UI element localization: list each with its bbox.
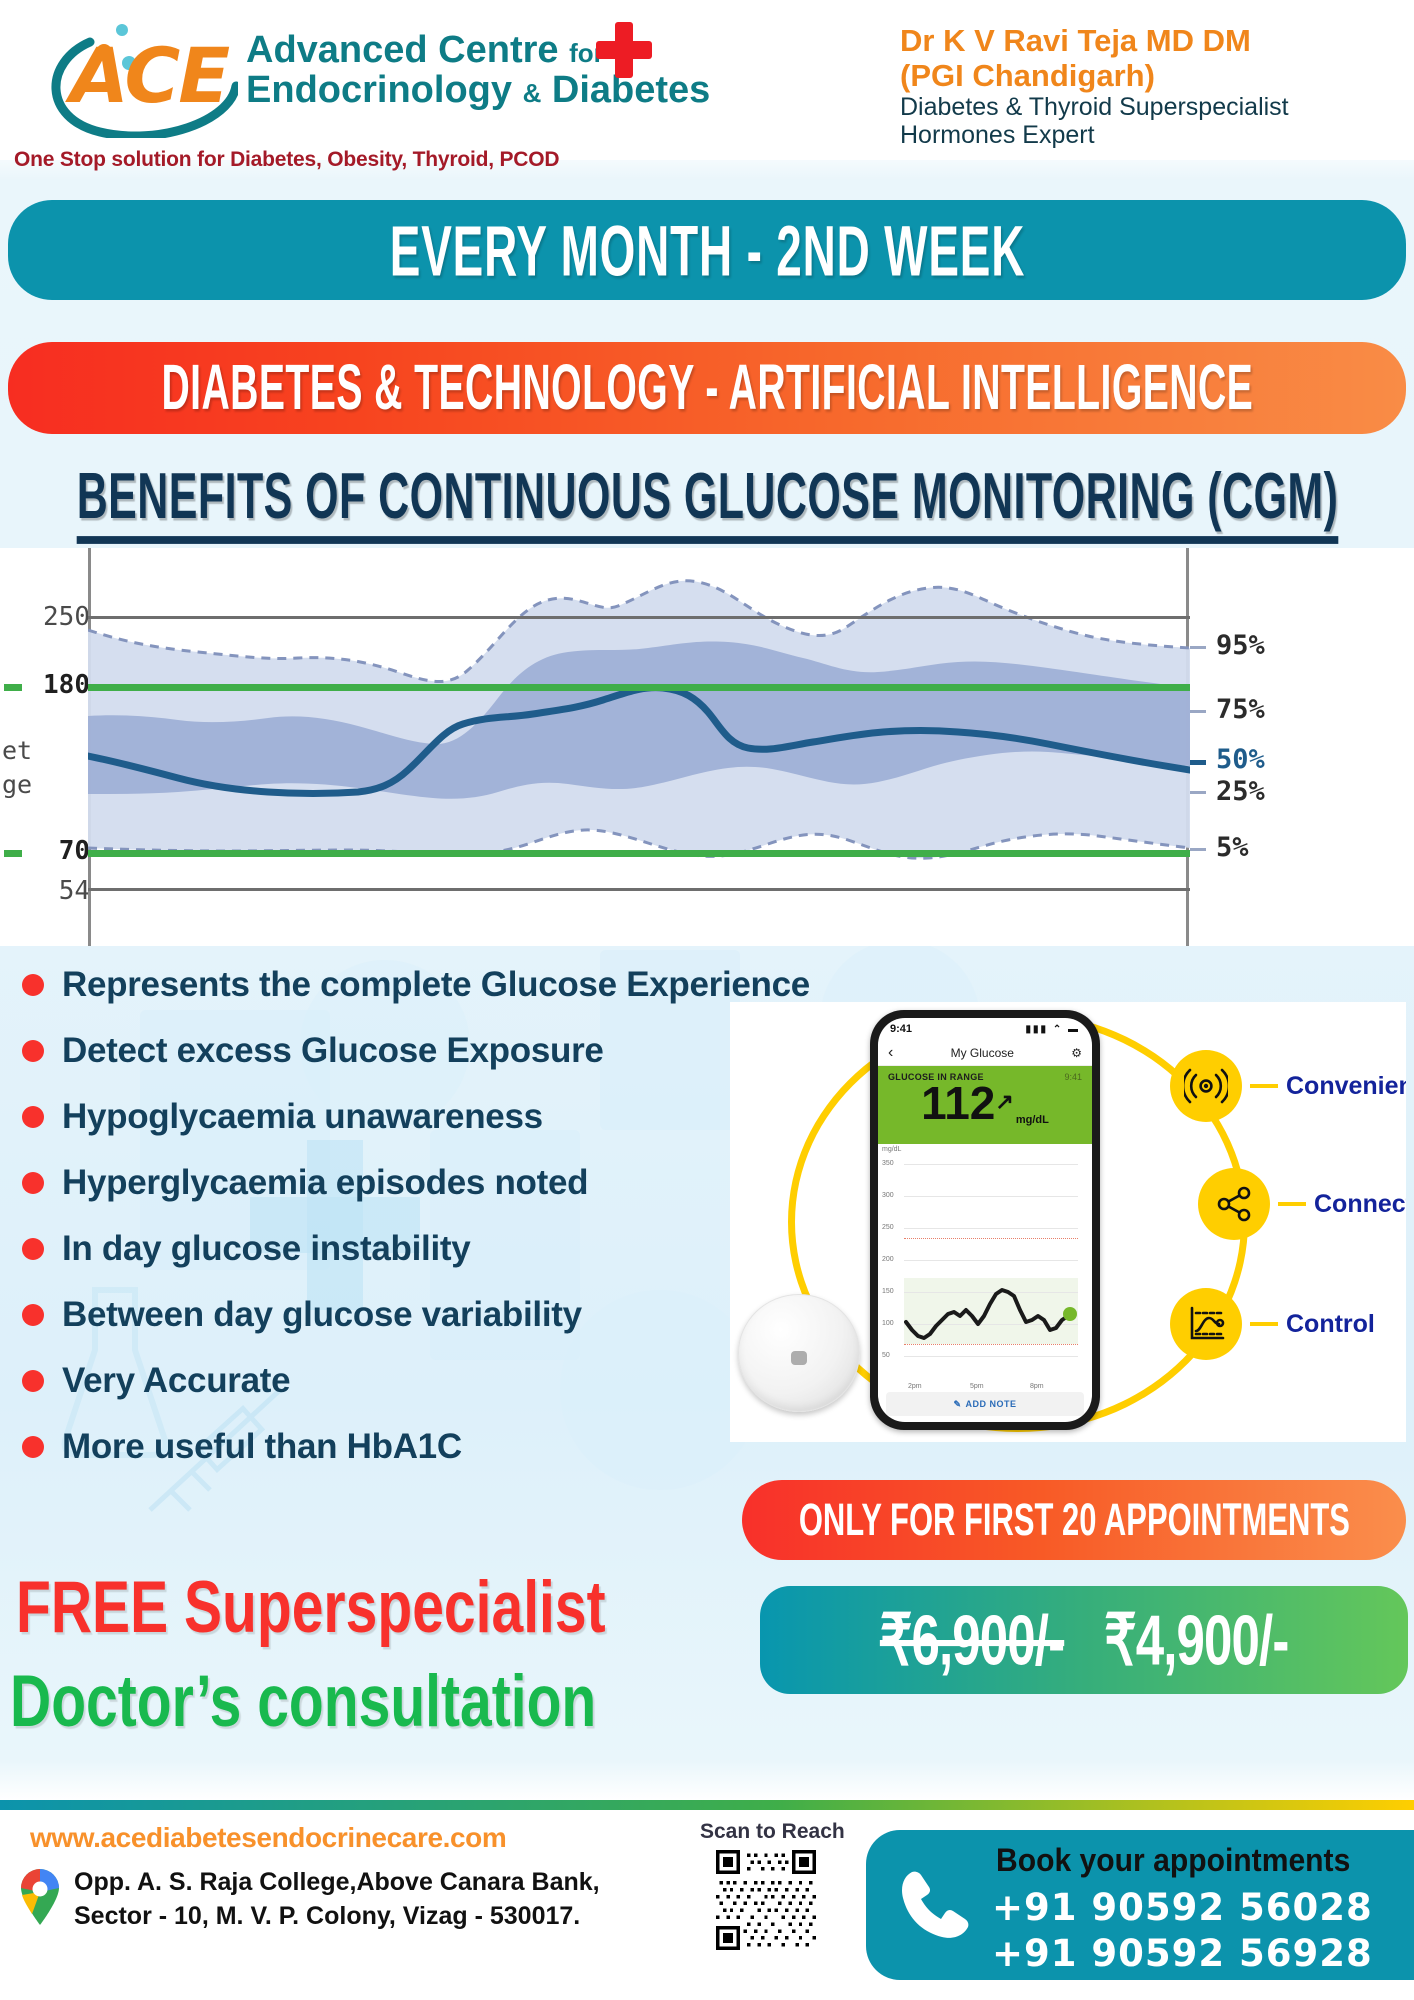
back-icon[interactable]: ‹ [888, 1044, 893, 1062]
feature-label: Convenience [1286, 1072, 1406, 1101]
agp-chart: 250 180 et ge 70 54 95% [0, 548, 1414, 946]
connector-dash [1250, 1322, 1278, 1326]
appointments-offer-badge: ONLY FOR FIRST 20 APPOINTMENTS [742, 1480, 1406, 1560]
phone-ytick: 250 [882, 1224, 894, 1231]
feature-convenience: Convenience [1170, 1050, 1406, 1122]
chart-percentile-label-75: 75% [1216, 694, 1265, 725]
doctor-name-line1: Dr K V Ravi Teja MD DM [900, 24, 1400, 59]
phone-chart-unit: mg/dL [882, 1146, 901, 1153]
chart-ytick-54: 54 [10, 876, 90, 906]
chart-ylabel-fragment-1: et [2, 736, 32, 765]
bullet-dot-icon [22, 1106, 44, 1128]
cgm-sensor-icon [738, 1294, 860, 1412]
price-badge: ₹6,900/- ₹4,900/- [760, 1586, 1408, 1694]
connector-dash [1250, 1084, 1278, 1088]
phone-screen: 9:41 ▮▮▮ ⌃ ▬ ‹ My Glucose ⚙ GLUCOSE IN R… [878, 1018, 1092, 1422]
current-reading-dot [1063, 1307, 1077, 1321]
chart-target-line-low [88, 850, 1190, 857]
price-old: ₹6,900/- [880, 1601, 1064, 1680]
chart-percentile-tick-75 [1190, 710, 1206, 713]
appointments-offer-text: ONLY FOR FIRST 20 APPOINTMENTS [798, 1494, 1349, 1547]
gear-icon[interactable]: ⚙ [1071, 1046, 1082, 1060]
phone-ytick: 100 [882, 1320, 894, 1327]
bullet-dot-icon [22, 1370, 44, 1392]
clinic-tagline: One Stop solution for Diabetes, Obesity,… [14, 148, 559, 172]
banner-month-text: EVERY MONTH - 2ND WEEK [389, 208, 1024, 291]
bullet-dot-icon [22, 1436, 44, 1458]
chart-gridline-250 [88, 616, 1190, 619]
feature-connection: Connection [1198, 1168, 1406, 1240]
clinic-logo: ACE Advanced Centre for Endocrinology & … [18, 8, 678, 156]
phone-call-icon [890, 1862, 976, 1948]
chart-percentile-tick-50 [1190, 760, 1206, 765]
phone-number-2[interactable]: +91 90592 56928 [992, 1932, 1373, 1975]
red-cross-icon [596, 22, 652, 78]
banner-technology-text: DIABETES & TECHNOLOGY - ARTIFICIAL INTEL… [161, 352, 1253, 425]
chart-ytick-250: 250 [10, 602, 90, 632]
chart-ytick-180: 180 [10, 670, 90, 700]
feature-label: Connection [1314, 1190, 1406, 1219]
list-item: Hypoglycaemia unawareness [10, 1084, 790, 1150]
doctor-info: Dr K V Ravi Teja MD DM (PGI Chandigarh) … [900, 24, 1400, 149]
benefit-text: More useful than HbA1C [62, 1427, 462, 1467]
header: ACE Advanced Centre for Endocrinology & … [0, 0, 1414, 160]
status-time: 9:41 [890, 1023, 912, 1035]
glucose-range-time: 9:41 [1064, 1072, 1082, 1082]
doctor-expertise: Hormones Expert [900, 121, 1400, 149]
price-new: ₹4,900/- [1104, 1601, 1288, 1680]
phone-xtick: 8pm [1030, 1383, 1044, 1390]
address-line2: Sector - 10, M. V. P. Colony, Vizag - 53… [74, 1900, 600, 1934]
pencil-icon: ✎ [953, 1399, 961, 1410]
chart-percentile-label-5: 5% [1216, 832, 1249, 863]
status-icons: ▮▮▮ ⌃ ▬ [1026, 1024, 1080, 1035]
glucose-value: 112↗mg/dL [888, 1080, 1082, 1126]
phone-ytick: 150 [882, 1288, 894, 1295]
chart-control-icon [1170, 1288, 1242, 1360]
doctor-specialty: Diabetes & Thyroid Superspecialist [900, 93, 1400, 121]
bullet-dot-icon [22, 974, 44, 996]
benefit-text: Very Accurate [62, 1361, 290, 1401]
connector-dash [1278, 1202, 1306, 1206]
phone-ytick: 200 [882, 1256, 894, 1263]
free-consult-line1: FREE Superspecialist [16, 1566, 606, 1650]
phone-glucose-trace [904, 1144, 1078, 1374]
price-row: ₹6,900/- ₹4,900/- [880, 1599, 1289, 1682]
chart-percentile-label-50: 50% [1216, 744, 1265, 775]
cgm-benefits-title: BENEFITS OF CONTINUOUS GLUCOSE MONITORIN… [6, 466, 1408, 536]
phone-nav-title: My Glucose [951, 1046, 1014, 1060]
list-item: More useful than HbA1C [10, 1414, 790, 1480]
chart-percentile-tick-25 [1190, 791, 1206, 794]
cgm-benefits-title-text: BENEFITS OF CONTINUOUS GLUCOSE MONITORIN… [76, 458, 1338, 544]
list-item: Very Accurate [10, 1348, 790, 1414]
phone-xtick: 2pm [908, 1383, 922, 1390]
booking-contact-panel: Book your appointments +91 90592 56028 +… [866, 1830, 1414, 1980]
glucose-number: 112 [921, 1077, 995, 1129]
trend-arrow-icon: ↗ [995, 1089, 1013, 1114]
benefit-text: Represents the complete Glucose Experien… [62, 965, 810, 1005]
list-item: Between day glucose variability [10, 1282, 790, 1348]
footer-divider [0, 1800, 1414, 1810]
phone-nav-bar: ‹ My Glucose ⚙ [878, 1040, 1092, 1066]
phone-ytick: 300 [882, 1192, 894, 1199]
chart-percentile-label-25: 25% [1216, 776, 1265, 807]
bullet-dot-icon [22, 1172, 44, 1194]
website-link[interactable]: www.acediabetesendocrinecare.com [30, 1822, 506, 1854]
bullet-dot-icon [22, 1304, 44, 1326]
chart-percentile-label-95: 95% [1216, 630, 1265, 661]
phone-ytick: 50 [882, 1352, 890, 1359]
list-item: Represents the complete Glucose Experien… [10, 952, 790, 1018]
phone-status-bar: 9:41 ▮▮▮ ⌃ ▬ [878, 1018, 1092, 1040]
list-item: Hyperglycaemia episodes noted [10, 1150, 790, 1216]
benefit-text: Hypoglycaemia unawareness [62, 1097, 543, 1137]
map-pin-icon [18, 1868, 62, 1926]
benefit-text: In day glucose instability [62, 1229, 470, 1269]
share-nodes-icon [1198, 1168, 1270, 1240]
price-spacer [1077, 1601, 1090, 1680]
feature-label: Control [1286, 1310, 1375, 1339]
phone-ytick: 350 [882, 1160, 894, 1167]
chart-target-line-high [88, 684, 1190, 691]
address-line1: Opp. A. S. Raja College,Above Canara Ban… [74, 1866, 600, 1900]
chart-ylabel-fragment-2: ge [2, 770, 32, 799]
benefits-list: Represents the complete Glucose Experien… [10, 952, 790, 1480]
benefit-text: Hyperglycaemia episodes noted [62, 1163, 588, 1203]
glucose-in-range-card: GLUCOSE IN RANGE 9:41 112↗mg/dL [878, 1066, 1092, 1144]
book-appointments-label: Book your appointments [996, 1842, 1350, 1879]
list-item: Detect excess Glucose Exposure [10, 1018, 790, 1084]
benefit-text: Between day glucose variability [62, 1295, 582, 1335]
footer: www.acediabetesendocrinecare.com Opp. A.… [0, 1810, 1414, 2000]
doctor-name-line2: (PGI Chandigarh) [900, 59, 1400, 94]
signal-broadcast-icon [1170, 1050, 1242, 1122]
add-note-button[interactable]: ✎ ADD NOTE [886, 1392, 1084, 1416]
banner-month: EVERY MONTH - 2ND WEEK [8, 200, 1406, 300]
clinic-address: Opp. A. S. Raja College,Above Canara Ban… [74, 1866, 600, 1934]
glucose-unit: mg/dL [1016, 1114, 1049, 1126]
phone-number-1[interactable]: +91 90592 56028 [992, 1886, 1373, 1929]
sensor-center-dot [791, 1351, 807, 1365]
free-consult-line2: Doctor’s consultation [10, 1660, 596, 1744]
qr-code[interactable] [716, 1850, 816, 1950]
phone-glucose-chart: mg/dL 350 300 250 200 150 100 5 [878, 1144, 1092, 1392]
chart-ytick-70: 70 [10, 836, 90, 866]
chart-percentile-tick-5 [1190, 848, 1206, 851]
chart-plot-svg [88, 548, 1190, 946]
bullet-dot-icon [22, 1040, 44, 1062]
benefit-text: Detect excess Glucose Exposure [62, 1031, 604, 1071]
phone-mockup: 9:41 ▮▮▮ ⌃ ▬ ‹ My Glucose ⚙ GLUCOSE IN R… [870, 1010, 1100, 1430]
feature-control: Control [1170, 1288, 1375, 1360]
banner-technology: DIABETES & TECHNOLOGY - ARTIFICIAL INTEL… [8, 342, 1406, 434]
ace-logotype: ACE [70, 38, 228, 114]
bullet-dot-icon [22, 1238, 44, 1260]
list-item: In day glucose instability [10, 1216, 790, 1282]
scan-to-reach-label: Scan to Reach [700, 1820, 845, 1844]
phone-xtick: 5pm [970, 1383, 984, 1390]
poster-root: ACE Advanced Centre for Endocrinology & … [0, 0, 1414, 2000]
add-note-label: ADD NOTE [966, 1399, 1017, 1409]
chart-gridline-54 [88, 888, 1190, 891]
cgm-device-illustration: 9:41 ▮▮▮ ⌃ ▬ ‹ My Glucose ⚙ GLUCOSE IN R… [730, 1002, 1406, 1442]
chart-percentile-tick-95 [1190, 646, 1206, 649]
